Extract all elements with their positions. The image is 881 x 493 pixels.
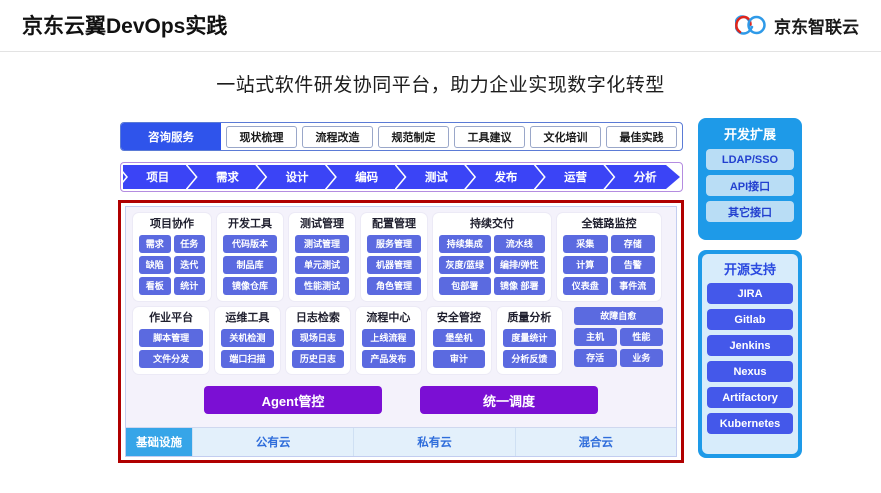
capability-chip-grid: 持续集成流水线灰度/蓝绿编排/弹性包部署镜像 部署 bbox=[439, 235, 545, 295]
capability-chip-grid: 代码版本制品库镜像仓库 bbox=[223, 235, 277, 295]
capability-chip-grid: 采集存储计算告警仪表盘事件流 bbox=[563, 235, 655, 295]
capability-card: 质量分析度量统计分析反馈 bbox=[497, 307, 561, 374]
capability-card-title: 配置管理 bbox=[367, 218, 421, 231]
jd-cloud-infinity-logo-icon bbox=[735, 15, 767, 36]
capability-card: 持续交付持续集成流水线灰度/蓝绿编排/弹性包部署镜像 部署 bbox=[433, 213, 551, 301]
capability-card: 日志检索现场日志历史日志 bbox=[286, 307, 350, 374]
side-panel-dev-extension: 开发扩展 LDAP/SSOAPI接口其它接口 bbox=[698, 118, 802, 240]
capability-chip[interactable]: 看板 bbox=[139, 277, 171, 295]
capability-card-title: 全链路监控 bbox=[563, 218, 655, 231]
brand-name: 京东智联云 bbox=[774, 13, 859, 38]
capability-chip[interactable]: 代码版本 bbox=[223, 235, 277, 253]
capability-chip[interactable]: 端口扫描 bbox=[221, 350, 273, 368]
pipeline-stage[interactable]: 设计 bbox=[262, 165, 332, 189]
side-panel-chip[interactable]: Jenkins bbox=[707, 335, 793, 356]
side-panel-chip[interactable]: JIRA bbox=[707, 283, 793, 304]
capability-card-title: 持续交付 bbox=[439, 218, 545, 231]
side-panel-chip[interactable]: Kubernetes bbox=[707, 413, 793, 434]
capability-card-title: 运维工具 bbox=[221, 312, 273, 325]
pipeline-stage[interactable]: 项目 bbox=[123, 165, 193, 189]
platform-service-bar[interactable]: 统一调度 bbox=[420, 386, 598, 414]
platform-service-bar[interactable]: Agent管控 bbox=[204, 386, 382, 414]
capability-card-title: 项目协作 bbox=[139, 218, 205, 231]
infrastructure-tab[interactable]: 基础设施 bbox=[126, 428, 193, 456]
capability-card: 配置管理服务管理机器管理角色管理 bbox=[361, 213, 427, 301]
capability-chip[interactable]: 主机 bbox=[574, 328, 617, 346]
brand-logo: 京东智联云 bbox=[735, 13, 859, 38]
capability-chip[interactable]: 业务 bbox=[620, 349, 663, 367]
capability-card-title: 质量分析 bbox=[503, 312, 555, 325]
pipeline-stage[interactable]: 需求 bbox=[193, 165, 263, 189]
capability-chip-grid: 关机检测端口扫描 bbox=[221, 329, 273, 368]
capability-card-title: 开发工具 bbox=[223, 218, 277, 231]
pipeline-stage[interactable]: 发布 bbox=[471, 165, 541, 189]
capability-chip[interactable]: 计算 bbox=[563, 256, 608, 274]
capability-chip[interactable]: 服务管理 bbox=[367, 235, 421, 253]
capability-chip[interactable]: 产品发布 bbox=[362, 350, 414, 368]
capability-card-title: 测试管理 bbox=[295, 218, 349, 231]
capability-chip[interactable]: 性能测试 bbox=[295, 277, 349, 295]
capability-card: 流程中心上线流程产品发布 bbox=[356, 307, 420, 374]
side-panel-chip[interactable]: Artifactory bbox=[707, 387, 793, 408]
capability-chip[interactable]: 制品库 bbox=[223, 256, 277, 274]
capability-chip[interactable]: 故障自愈 bbox=[574, 307, 663, 325]
open-source-inner: 开源支持 JIRAGitlabJenkinsNexusArtifactoryKu… bbox=[702, 254, 798, 454]
capability-chip[interactable]: 采集 bbox=[563, 235, 608, 253]
capability-chip-grid: 度量统计分析反馈 bbox=[503, 329, 555, 368]
capability-card-title: 日志检索 bbox=[292, 312, 344, 325]
consulting-chip[interactable]: 工具建议 bbox=[454, 126, 525, 148]
capability-chip[interactable]: 事件流 bbox=[611, 277, 656, 295]
devops-pipeline: 项目需求设计编码测试发布运营分析 bbox=[120, 162, 683, 192]
consulting-chip[interactable]: 现状梳理 bbox=[226, 126, 297, 148]
capability-chip[interactable]: 分析反馈 bbox=[503, 350, 555, 368]
side-panel-chip[interactable]: 其它接口 bbox=[706, 201, 794, 222]
infrastructure-tab[interactable]: 混合云 bbox=[516, 428, 676, 456]
capability-board: 项目协作需求任务缺陷迭代看板统计开发工具代码版本制品库镜像仓库测试管理测试管理单… bbox=[118, 200, 684, 463]
side-panel-chip[interactable]: LDAP/SSO bbox=[706, 149, 794, 170]
capability-row: 项目协作需求任务缺陷迭代看板统计开发工具代码版本制品库镜像仓库测试管理测试管理单… bbox=[133, 213, 669, 301]
pipeline-stages: 项目需求设计编码测试发布运营分析 bbox=[123, 165, 680, 189]
capability-chip[interactable]: 审计 bbox=[433, 350, 485, 368]
pipeline-stage[interactable]: 分析 bbox=[610, 165, 680, 189]
consulting-chip[interactable]: 规范制定 bbox=[378, 126, 449, 148]
consulting-chip[interactable]: 流程改造 bbox=[302, 126, 373, 148]
side-panel-title: 开源支持 bbox=[724, 259, 776, 278]
side-panel-open-source: 开源支持 JIRAGitlabJenkinsNexusArtifactoryKu… bbox=[698, 250, 802, 458]
capability-chip[interactable]: 镜像 部署 bbox=[494, 277, 546, 295]
capability-card-title: 流程中心 bbox=[362, 312, 414, 325]
consulting-primary-button[interactable]: 咨询服务 bbox=[121, 123, 221, 150]
capability-row: 作业平台脚本管理文件分发运维工具关机检测端口扫描日志检索现场日志历史日志流程中心… bbox=[133, 307, 669, 374]
capability-card: 安全管控堡垒机审计 bbox=[427, 307, 491, 374]
capability-chip[interactable]: 关机检测 bbox=[221, 329, 273, 347]
capability-chip-grid: 测试管理单元测试性能测试 bbox=[295, 235, 349, 295]
capability-chip[interactable]: 上线流程 bbox=[362, 329, 414, 347]
page-title: 京东云翼DevOps实践 bbox=[22, 10, 227, 40]
infrastructure-tab[interactable]: 私有云 bbox=[354, 428, 515, 456]
capability-chip-grid: 故障自愈主机性能存活业务 bbox=[574, 307, 663, 367]
consulting-chip-list: 现状梳理流程改造规范制定工具建议文化培训最佳实践 bbox=[221, 123, 682, 150]
consulting-service-row: 咨询服务 现状梳理流程改造规范制定工具建议文化培训最佳实践 bbox=[120, 122, 683, 151]
capability-chip[interactable]: 仪表盘 bbox=[563, 277, 608, 295]
capability-chip[interactable]: 任务 bbox=[174, 235, 206, 253]
capability-chip-grid: 脚本管理文件分发 bbox=[139, 329, 203, 368]
capability-chip[interactable]: 持续集成 bbox=[439, 235, 491, 253]
capability-card-title: 作业平台 bbox=[139, 312, 203, 325]
infrastructure-tabs: 基础设施公有云私有云混合云 bbox=[126, 427, 676, 456]
capability-chip[interactable]: 堡垒机 bbox=[433, 329, 485, 347]
capability-chip[interactable]: 统计 bbox=[174, 277, 206, 295]
open-source-chip-list: JIRAGitlabJenkinsNexusArtifactoryKuberne… bbox=[707, 283, 793, 434]
capability-card: 全链路监控采集存储计算告警仪表盘事件流 bbox=[557, 213, 661, 301]
infrastructure-tab[interactable]: 公有云 bbox=[193, 428, 354, 456]
pipeline-stage[interactable]: 运营 bbox=[541, 165, 611, 189]
capability-card: 测试管理测试管理单元测试性能测试 bbox=[289, 213, 355, 301]
capability-card-title: 安全管控 bbox=[433, 312, 485, 325]
page-subtitle: 一站式软件研发协同平台，助力企业实现数字化转型 bbox=[0, 70, 881, 97]
capability-chip-grid: 现场日志历史日志 bbox=[292, 329, 344, 368]
consulting-chip[interactable]: 最佳实践 bbox=[606, 126, 677, 148]
capability-board-inner: 项目协作需求任务缺陷迭代看板统计开发工具代码版本制品库镜像仓库测试管理测试管理单… bbox=[125, 206, 677, 457]
capability-chip[interactable]: 流水线 bbox=[494, 235, 546, 253]
pipeline-stage[interactable]: 编码 bbox=[332, 165, 402, 189]
capability-chip[interactable]: 编排/弹性 bbox=[494, 256, 546, 274]
capability-chip-grid: 上线流程产品发布 bbox=[362, 329, 414, 368]
capability-chip[interactable]: 包部署 bbox=[439, 277, 491, 295]
capability-chip[interactable]: 需求 bbox=[139, 235, 171, 253]
side-panel-title: 开发扩展 bbox=[724, 124, 776, 143]
capability-chip[interactable]: 存活 bbox=[574, 349, 617, 367]
capability-chip[interactable]: 角色管理 bbox=[367, 277, 421, 295]
side-panel-chip[interactable]: Nexus bbox=[707, 361, 793, 382]
capability-chip[interactable]: 脚本管理 bbox=[139, 329, 203, 347]
side-panel-chip[interactable]: Gitlab bbox=[707, 309, 793, 330]
capability-card: 故障自愈主机性能存活业务 bbox=[568, 307, 669, 374]
capability-card: 作业平台脚本管理文件分发 bbox=[133, 307, 209, 374]
capability-card: 项目协作需求任务缺陷迭代看板统计 bbox=[133, 213, 211, 301]
pipeline-stage[interactable]: 测试 bbox=[402, 165, 472, 189]
capability-chip[interactable]: 存储 bbox=[611, 235, 656, 253]
capability-chip[interactable]: 历史日志 bbox=[292, 350, 344, 368]
capability-chip[interactable]: 机器管理 bbox=[367, 256, 421, 274]
consulting-chip[interactable]: 文化培训 bbox=[530, 126, 601, 148]
platform-service-bars: Agent管控统一调度 bbox=[126, 380, 676, 421]
capability-card-rows: 项目协作需求任务缺陷迭代看板统计开发工具代码版本制品库镜像仓库测试管理测试管理单… bbox=[126, 207, 676, 380]
capability-chip[interactable]: 度量统计 bbox=[503, 329, 555, 347]
capability-card: 运维工具关机检测端口扫描 bbox=[215, 307, 279, 374]
capability-chip-grid: 服务管理机器管理角色管理 bbox=[367, 235, 421, 295]
capability-chip[interactable]: 告警 bbox=[611, 256, 656, 274]
capability-chip[interactable]: 镜像仓库 bbox=[223, 277, 277, 295]
capability-chip[interactable]: 文件分发 bbox=[139, 350, 203, 368]
capability-chip[interactable]: 迭代 bbox=[174, 256, 206, 274]
capability-chip[interactable]: 灰度/蓝绿 bbox=[439, 256, 491, 274]
capability-chip[interactable]: 性能 bbox=[620, 328, 663, 346]
page-header: 京东云翼DevOps实践 京东智联云 bbox=[0, 0, 881, 52]
capability-chip[interactable]: 单元测试 bbox=[295, 256, 349, 274]
side-panel-chip[interactable]: API接口 bbox=[706, 175, 794, 196]
capability-chip[interactable]: 缺陷 bbox=[139, 256, 171, 274]
capability-chip[interactable]: 现场日志 bbox=[292, 329, 344, 347]
dev-extension-chip-list: LDAP/SSOAPI接口其它接口 bbox=[706, 149, 794, 227]
capability-card: 开发工具代码版本制品库镜像仓库 bbox=[217, 213, 283, 301]
capability-chip-grid: 堡垒机审计 bbox=[433, 329, 485, 368]
capability-chip-grid: 需求任务缺陷迭代看板统计 bbox=[139, 235, 205, 295]
capability-chip[interactable]: 测试管理 bbox=[295, 235, 349, 253]
